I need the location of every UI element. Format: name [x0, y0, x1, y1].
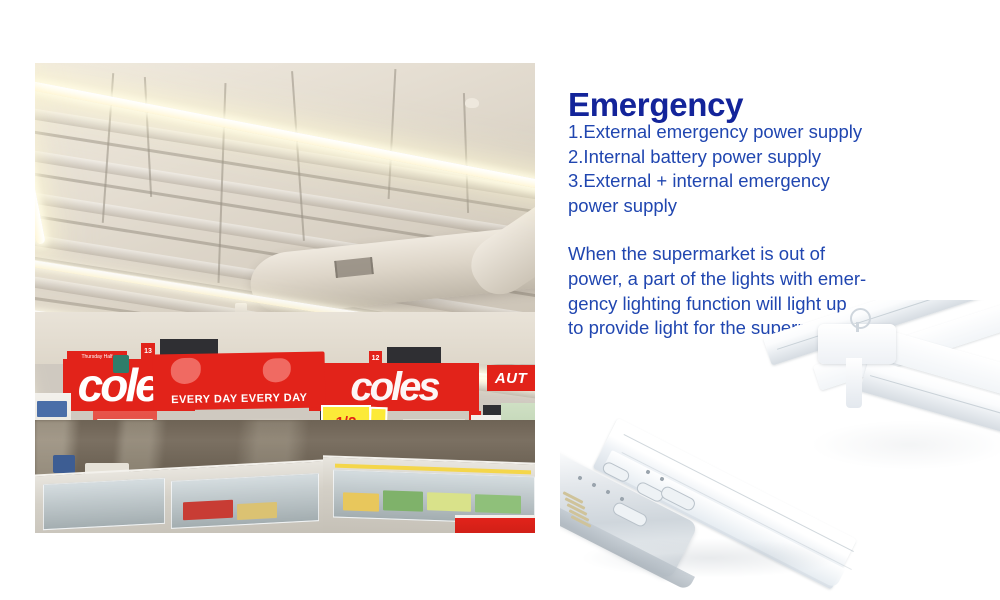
promo-banner: EVERY DAY EVERY DAY	[153, 352, 326, 411]
promo-label-text: Thursday Half	[81, 354, 112, 360]
promo-banner-graphic	[263, 358, 291, 382]
shelf-product	[37, 401, 67, 417]
store-aut-text: AUT	[495, 370, 527, 387]
paragraph-line: When the supermarket is out of	[568, 242, 968, 267]
product-shadow	[580, 538, 840, 578]
led-fixture-product-image	[560, 300, 1000, 600]
paragraph-spacer	[568, 218, 968, 242]
paragraph-line: power, a part of the lights with emer-	[568, 267, 968, 292]
freezer-product	[427, 492, 471, 512]
store-brand-sign-secondary: coles	[309, 363, 479, 411]
freezer-glass-panel	[43, 478, 165, 530]
suspension-hook-eyelet-icon	[850, 308, 871, 329]
suspension-hook-stem	[846, 358, 862, 408]
floor-pallet	[53, 455, 75, 473]
endcap-promo	[455, 515, 535, 533]
page-title: Emergency	[568, 86, 743, 124]
list-item: 2.Internal battery power supply	[568, 145, 968, 170]
freezer-product	[183, 500, 233, 521]
freezer-product	[475, 494, 521, 514]
store-aut-sign: AUT	[487, 365, 535, 391]
floor-stock	[113, 355, 129, 373]
slide-canvas: Cat Food Dog Food Toilet rolls 13 Cleani…	[0, 0, 1000, 600]
freezer-product	[343, 492, 379, 511]
list-item: 3.External + internal emergency	[568, 169, 968, 194]
sprinkler-head-icon	[465, 98, 479, 108]
promo-banner-graphic	[171, 358, 201, 385]
product-shadow	[810, 420, 1000, 470]
promo-banner-text: EVERY DAY EVERY DAY	[171, 392, 307, 406]
freezer-product	[383, 490, 423, 511]
list-item: power supply	[568, 194, 968, 219]
supermarket-photo: Cat Food Dog Food Toilet rolls 13 Cleani…	[35, 63, 535, 533]
list-item: 1.External emergency power supply	[568, 120, 968, 145]
suspension-hook-tail	[856, 322, 859, 332]
store-brand-wordmark: coles	[350, 367, 437, 407]
freezer-product	[237, 502, 277, 520]
